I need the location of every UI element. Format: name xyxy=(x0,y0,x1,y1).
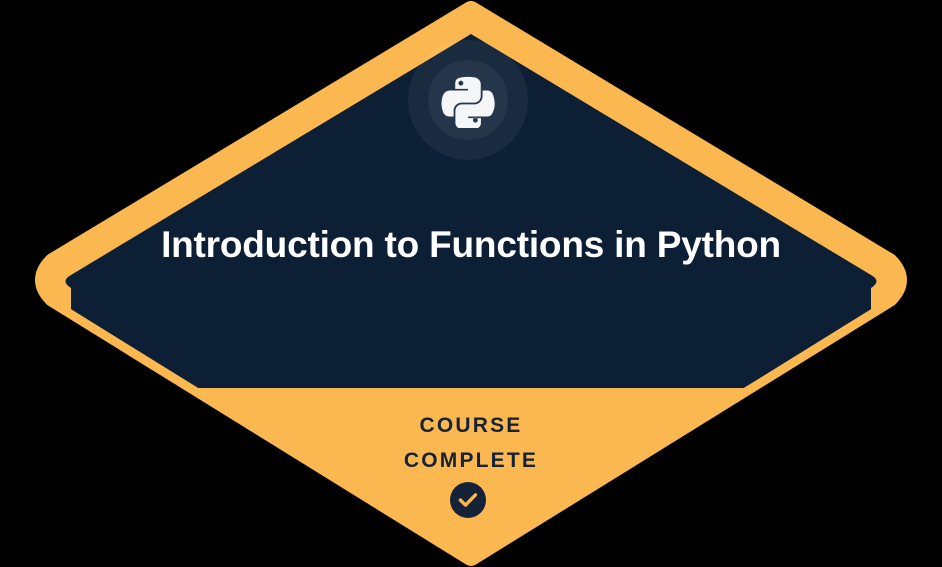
python-emblem xyxy=(408,40,528,160)
certificate-badge-stage: Introduction to Functions in Python COUR… xyxy=(0,0,942,567)
course-title: Introduction to Functions in Python xyxy=(131,222,811,268)
check-circle-icon xyxy=(450,482,486,518)
python-logo-icon xyxy=(440,72,496,128)
status-line-course: COURSE xyxy=(221,408,721,443)
status-line-complete: COMPLETE xyxy=(221,443,721,478)
completion-status: COURSE COMPLETE xyxy=(221,408,721,478)
badge-content-layer: Introduction to Functions in Python COUR… xyxy=(0,0,942,567)
